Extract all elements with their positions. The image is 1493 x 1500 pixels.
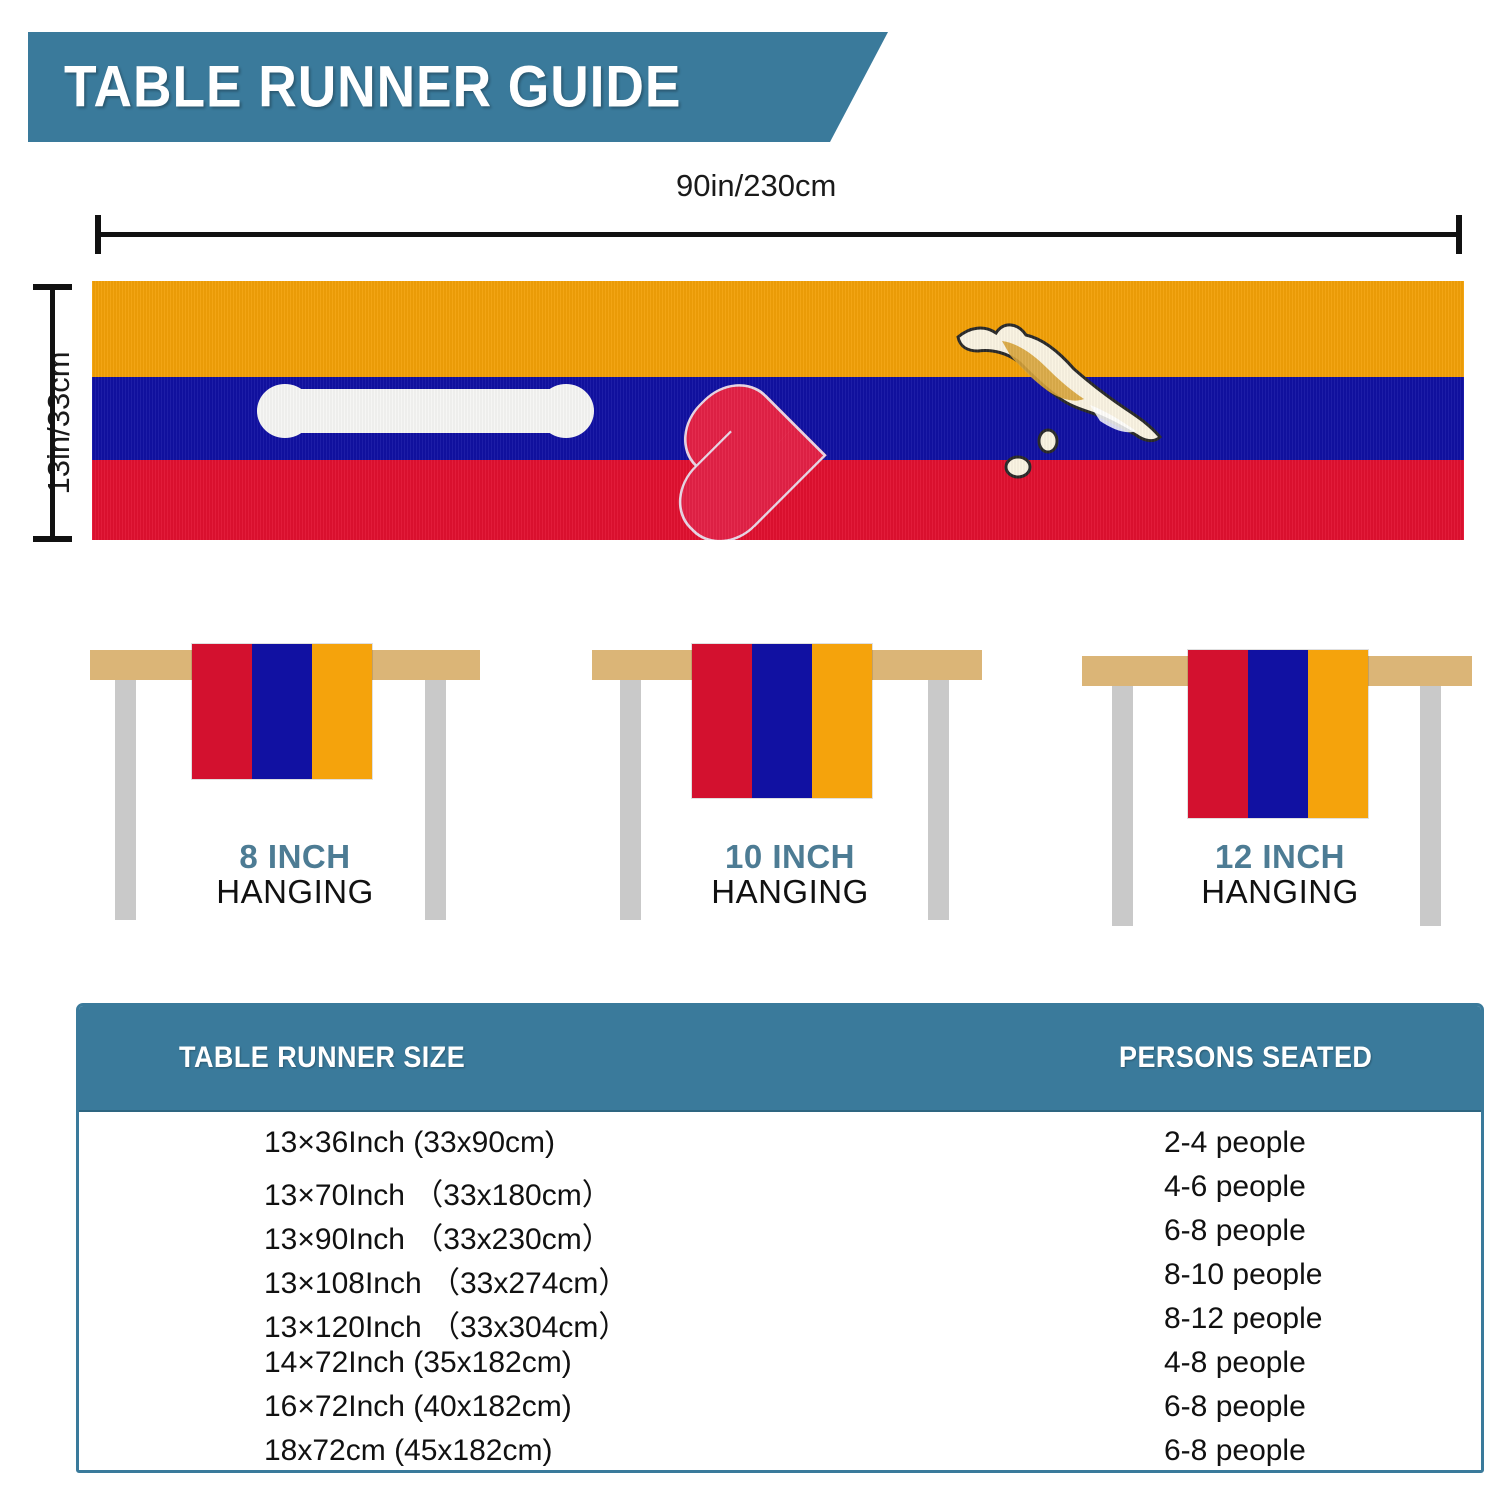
hanging-examples: 8 INCH HANGING 10 INCH HANGING 12 INCH (0, 600, 1493, 950)
hanging-caption: 10 INCH HANGING (580, 840, 1000, 910)
size-table: TABLE RUNNER SIZE PERSONS SEATED 13×36In… (76, 1003, 1484, 1473)
width-dimension-cap-bottom (33, 536, 72, 542)
cell-size: 13×36Inch (33x90cm) (264, 1126, 555, 1160)
hanging-size-label: 8 INCH (85, 840, 505, 875)
swatch-stripe-orange (312, 644, 372, 779)
cell-size: 16×72Inch (40x182cm) (264, 1390, 572, 1424)
width-dimension-cap-top (33, 284, 72, 290)
swatch-stripe-red (692, 644, 752, 798)
table-row: 13×108Inch （33x274cm） 8-10 people (79, 1258, 1481, 1302)
runner-hanging-swatch (192, 644, 372, 779)
hanging-example-10-inch: 10 INCH HANGING (580, 600, 1000, 930)
cell-size: 13×108Inch （33x274cm） (264, 1258, 628, 1302)
swatch-stripe-red (192, 644, 252, 779)
swatch-stripe-blue (252, 644, 312, 779)
hanging-word-label: HANGING (580, 875, 1000, 910)
table-row: 14×72Inch (35x182cm) 4-8 people (79, 1346, 1481, 1390)
table-row: 13×70Inch （33x180cm） 4-6 people (79, 1170, 1481, 1214)
column-header-persons: PERSONS SEATED (1119, 1041, 1372, 1075)
table-runner-preview (92, 281, 1464, 540)
cell-persons: 6-8 people (1164, 1434, 1306, 1468)
table-row: 18x72cm (45x182cm) 6-8 people (79, 1434, 1481, 1473)
cell-size: 13×70Inch （33x180cm） (264, 1170, 612, 1214)
width-dimension-line (50, 284, 55, 542)
table-row: 16×72Inch (40x182cm) 6-8 people (79, 1390, 1481, 1434)
cell-size: 14×72Inch (35x182cm) (264, 1346, 572, 1380)
cell-size: 18x72cm (45x182cm) (264, 1434, 552, 1468)
size-table-body: 13×36Inch (33x90cm) 2-4 people 13×70Inch… (79, 1112, 1481, 1473)
length-dimension-label: 90in/230cm (676, 168, 836, 204)
hanging-caption: 8 INCH HANGING (85, 840, 505, 910)
runner-stripe-orange (92, 281, 1464, 377)
swatch-stripe-red (1188, 650, 1248, 818)
runner-hanging-swatch (692, 644, 872, 798)
swatch-stripe-orange (1308, 650, 1368, 818)
header-banner: TABLE RUNNER GUIDE (28, 32, 888, 142)
hanging-caption: 12 INCH HANGING (1070, 840, 1490, 910)
swatch-stripe-orange (812, 644, 872, 798)
hanging-example-8-inch: 8 INCH HANGING (85, 600, 505, 930)
runner-hanging-swatch (1188, 650, 1368, 818)
cell-size: 13×120Inch （33x304cm） (264, 1302, 628, 1346)
cell-persons: 6-8 people (1164, 1390, 1306, 1424)
page-title: TABLE RUNNER GUIDE (64, 54, 681, 121)
column-header-size: TABLE RUNNER SIZE (179, 1041, 465, 1075)
swatch-stripe-blue (1248, 650, 1308, 818)
hanging-example-12-inch: 12 INCH HANGING (1070, 600, 1490, 930)
cell-persons: 8-10 people (1164, 1258, 1322, 1292)
table-row: 13×120Inch （33x304cm） 8-12 people (79, 1302, 1481, 1346)
length-dimension-cap-right (1456, 215, 1462, 254)
cell-persons: 4-8 people (1164, 1346, 1306, 1380)
cell-persons: 4-6 people (1164, 1170, 1306, 1204)
hanging-word-label: HANGING (85, 875, 505, 910)
cell-persons: 6-8 people (1164, 1214, 1306, 1248)
island-map-icon (940, 309, 1200, 479)
width-dimension-label: 13in/33cm (41, 318, 77, 528)
table-row: 13×90Inch （33x230cm） 6-8 people (79, 1214, 1481, 1258)
table-row: 13×36Inch (33x90cm) 2-4 people (79, 1126, 1481, 1170)
length-dimension-cap-left (95, 215, 101, 254)
bone-dash-icon (263, 389, 588, 433)
hanging-word-label: HANGING (1070, 875, 1490, 910)
length-dimension-line (95, 232, 1462, 237)
cell-persons: 8-12 people (1164, 1302, 1322, 1336)
size-table-header: TABLE RUNNER SIZE PERSONS SEATED (79, 1006, 1481, 1112)
hanging-size-label: 10 INCH (580, 840, 1000, 875)
hanging-size-label: 12 INCH (1070, 840, 1490, 875)
cell-size: 13×90Inch （33x230cm） (264, 1214, 612, 1258)
swatch-stripe-blue (752, 644, 812, 798)
cell-persons: 2-4 people (1164, 1126, 1306, 1160)
